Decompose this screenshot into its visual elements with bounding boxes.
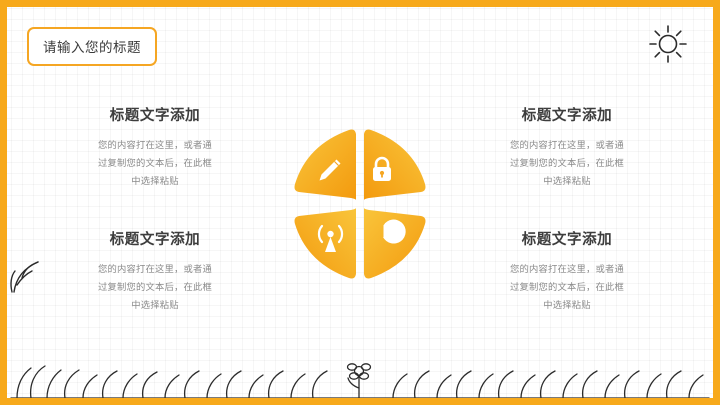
content-line: 过复制您的文本后，在此框	[62, 154, 248, 172]
content-block-bottom-right: 标题文字添加 您的内容打在这里，或者通 过复制您的文本后，在此框 中选择粘贴	[474, 228, 660, 314]
pinwheel-petal-bottom-left[interactable]	[295, 208, 357, 279]
content-line: 中选择粘贴	[62, 172, 248, 190]
content-block-title: 标题文字添加	[62, 104, 248, 125]
sun-doodle-icon	[646, 22, 690, 66]
content-line: 您的内容打在这里，或者通	[62, 136, 248, 154]
content-block-bottom-left: 标题文字添加 您的内容打在这里，或者通 过复制您的文本后，在此框 中选择粘贴	[62, 228, 248, 314]
content-line: 过复制您的文本后，在此框	[474, 278, 660, 296]
frame-border-bottom	[0, 398, 720, 405]
pinwheel-diagram	[283, 118, 437, 288]
content-line: 您的内容打在这里，或者通	[62, 260, 248, 278]
pinwheel-petal-bottom-right[interactable]	[364, 208, 426, 279]
content-block-body: 您的内容打在这里，或者通 过复制您的文本后，在此框 中选择粘贴	[474, 260, 660, 314]
pinwheel-petal-top-left[interactable]	[295, 130, 357, 201]
content-block-body: 您的内容打在这里，或者通 过复制您的文本后，在此框 中选择粘贴	[474, 136, 660, 190]
content-line: 您的内容打在这里，或者通	[474, 260, 660, 278]
page-title-label: 请输入您的标题	[43, 40, 141, 55]
content-block-body: 您的内容打在这里，或者通 过复制您的文本后，在此框 中选择粘贴	[62, 136, 248, 190]
content-line: 中选择粘贴	[62, 296, 248, 314]
content-line: 中选择粘贴	[474, 172, 660, 190]
content-line: 过复制您的文本后，在此框	[474, 154, 660, 172]
slide-canvas: 请输入您的标题	[0, 0, 720, 405]
content-line: 过复制您的文本后，在此框	[62, 278, 248, 296]
content-block-body: 您的内容打在这里，或者通 过复制您的文本后，在此框 中选择粘贴	[62, 260, 248, 314]
frame-border-top	[0, 0, 720, 7]
content-block-top-left: 标题文字添加 您的内容打在这里，或者通 过复制您的文本后，在此框 中选择粘贴	[62, 104, 248, 190]
pinwheel-petal-top-right[interactable]	[364, 130, 426, 201]
content-block-title: 标题文字添加	[62, 228, 248, 249]
content-line: 您的内容打在这里，或者通	[474, 136, 660, 154]
content-block-top-right: 标题文字添加 您的内容打在这里，或者通 过复制您的文本后，在此框 中选择粘贴	[474, 104, 660, 190]
grass-doodle	[7, 350, 713, 398]
page-title[interactable]: 请输入您的标题	[27, 27, 157, 66]
content-block-title: 标题文字添加	[474, 228, 660, 249]
leaf-doodle	[8, 252, 48, 296]
content-line: 中选择粘贴	[474, 296, 660, 314]
frame-border-left	[0, 0, 7, 405]
frame-border-right	[713, 0, 720, 405]
content-block-title: 标题文字添加	[474, 104, 660, 125]
